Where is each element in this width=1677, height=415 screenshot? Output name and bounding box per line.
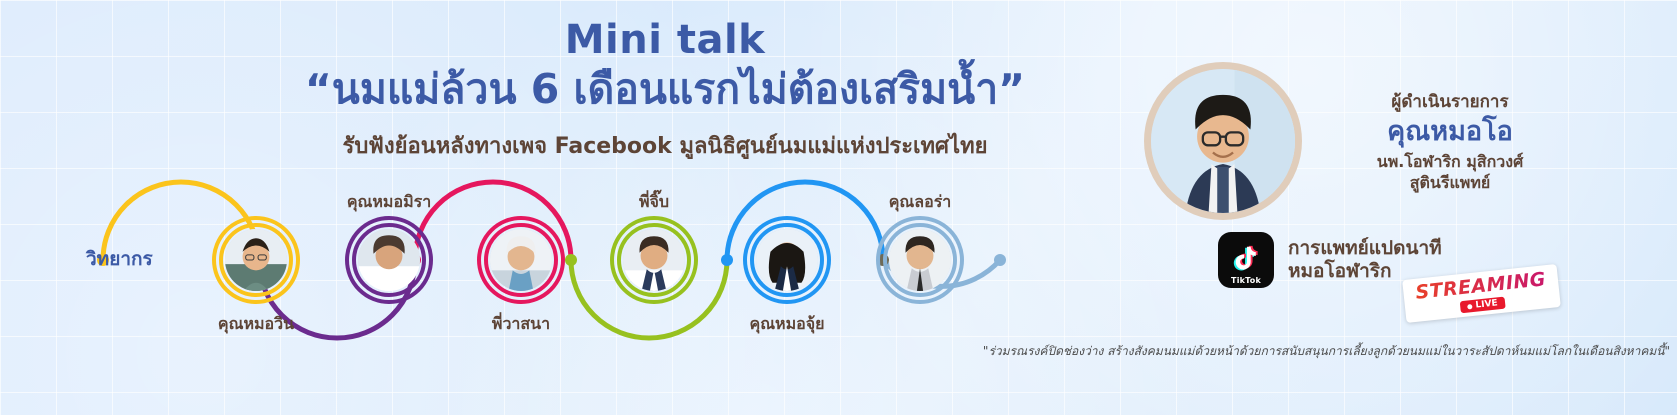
subtitle-text: รับฟังย้อนหลังทางเพจ Facebook มูลนิธิศูน… [250,128,1080,163]
headline-block: Mini talk “นมแม่ล้วน 6 เดือนแรกไม่ต้องเส… [250,18,1080,163]
avatar-photo [756,229,818,291]
host-nickname: คุณหมอโอ [1305,115,1595,149]
speaker-caption-5: คุณหมอจุ้ย [750,312,825,337]
tiktok-icon[interactable]: TikTok [1218,232,1274,288]
speaker-avatar-1[interactable] [212,216,300,304]
host-role-label: ผู้ดำเนินรายการ [1305,88,1595,115]
avatar-photo [889,229,951,291]
channel-name-line1: การแพทย์แปดนาที [1288,237,1442,260]
connector-node [565,254,577,266]
live-dot-icon [1467,304,1472,309]
speaker-avatar-5[interactable] [743,216,831,304]
avatar-photo [623,229,685,291]
avatar-photo [358,229,420,291]
speaker-avatar-3[interactable] [477,216,565,304]
speaker-caption-6: คุณลอร่า [889,190,952,215]
host-info-block: ผู้ดำเนินรายการ คุณหมอโอ นพ.โอฬาริก มุสิ… [1305,88,1595,194]
mini-talk-banner: Mini talk “นมแม่ล้วน 6 เดือนแรกไม่ต้องเส… [0,0,1677,415]
tiktok-note-glyph [1231,243,1261,273]
host-avatar[interactable] [1144,62,1302,220]
connector-node [994,254,1006,266]
title-quote: “นมแม่ล้วน 6 เดือนแรกไม่ต้องเสริมน้ำ” [250,65,1080,114]
speaker-avatar-6[interactable] [876,216,964,304]
channel-name: การแพทย์แปดนาที หมอโอฬาริก [1288,237,1442,283]
speaker-caption-1: คุณหมอวิน [218,312,294,337]
campaign-footnote: "ร่วมรณรงค์ปิดช่องว่าง สร้างสังคมนมแม่ด้… [840,344,1670,360]
speaker-caption-2: คุณหมอมิรา [347,190,431,215]
tiktok-wordmark: TikTok [1218,276,1274,285]
host-photo-image [1151,69,1295,213]
host-full-name: นพ.โอฬาริก มุสิกวงศ์ [1305,151,1595,173]
speaker-avatar-2[interactable] [345,216,433,304]
live-label: LIVE [1475,298,1498,310]
live-badge: LIVE [1460,297,1505,314]
avatar-photo [490,229,552,291]
avatar-photo [225,229,287,291]
host-specialty: สูตินรีแพทย์ [1305,172,1595,194]
connector-node [721,254,733,266]
speaker-caption-4: พี่จิ๊บ [639,190,669,215]
speakers-section-label: วิทยากร [86,244,153,274]
speaker-caption-3: พี่วาสนา [492,312,550,337]
page-title: Mini talk [250,18,1080,63]
speaker-avatar-4[interactable] [610,216,698,304]
